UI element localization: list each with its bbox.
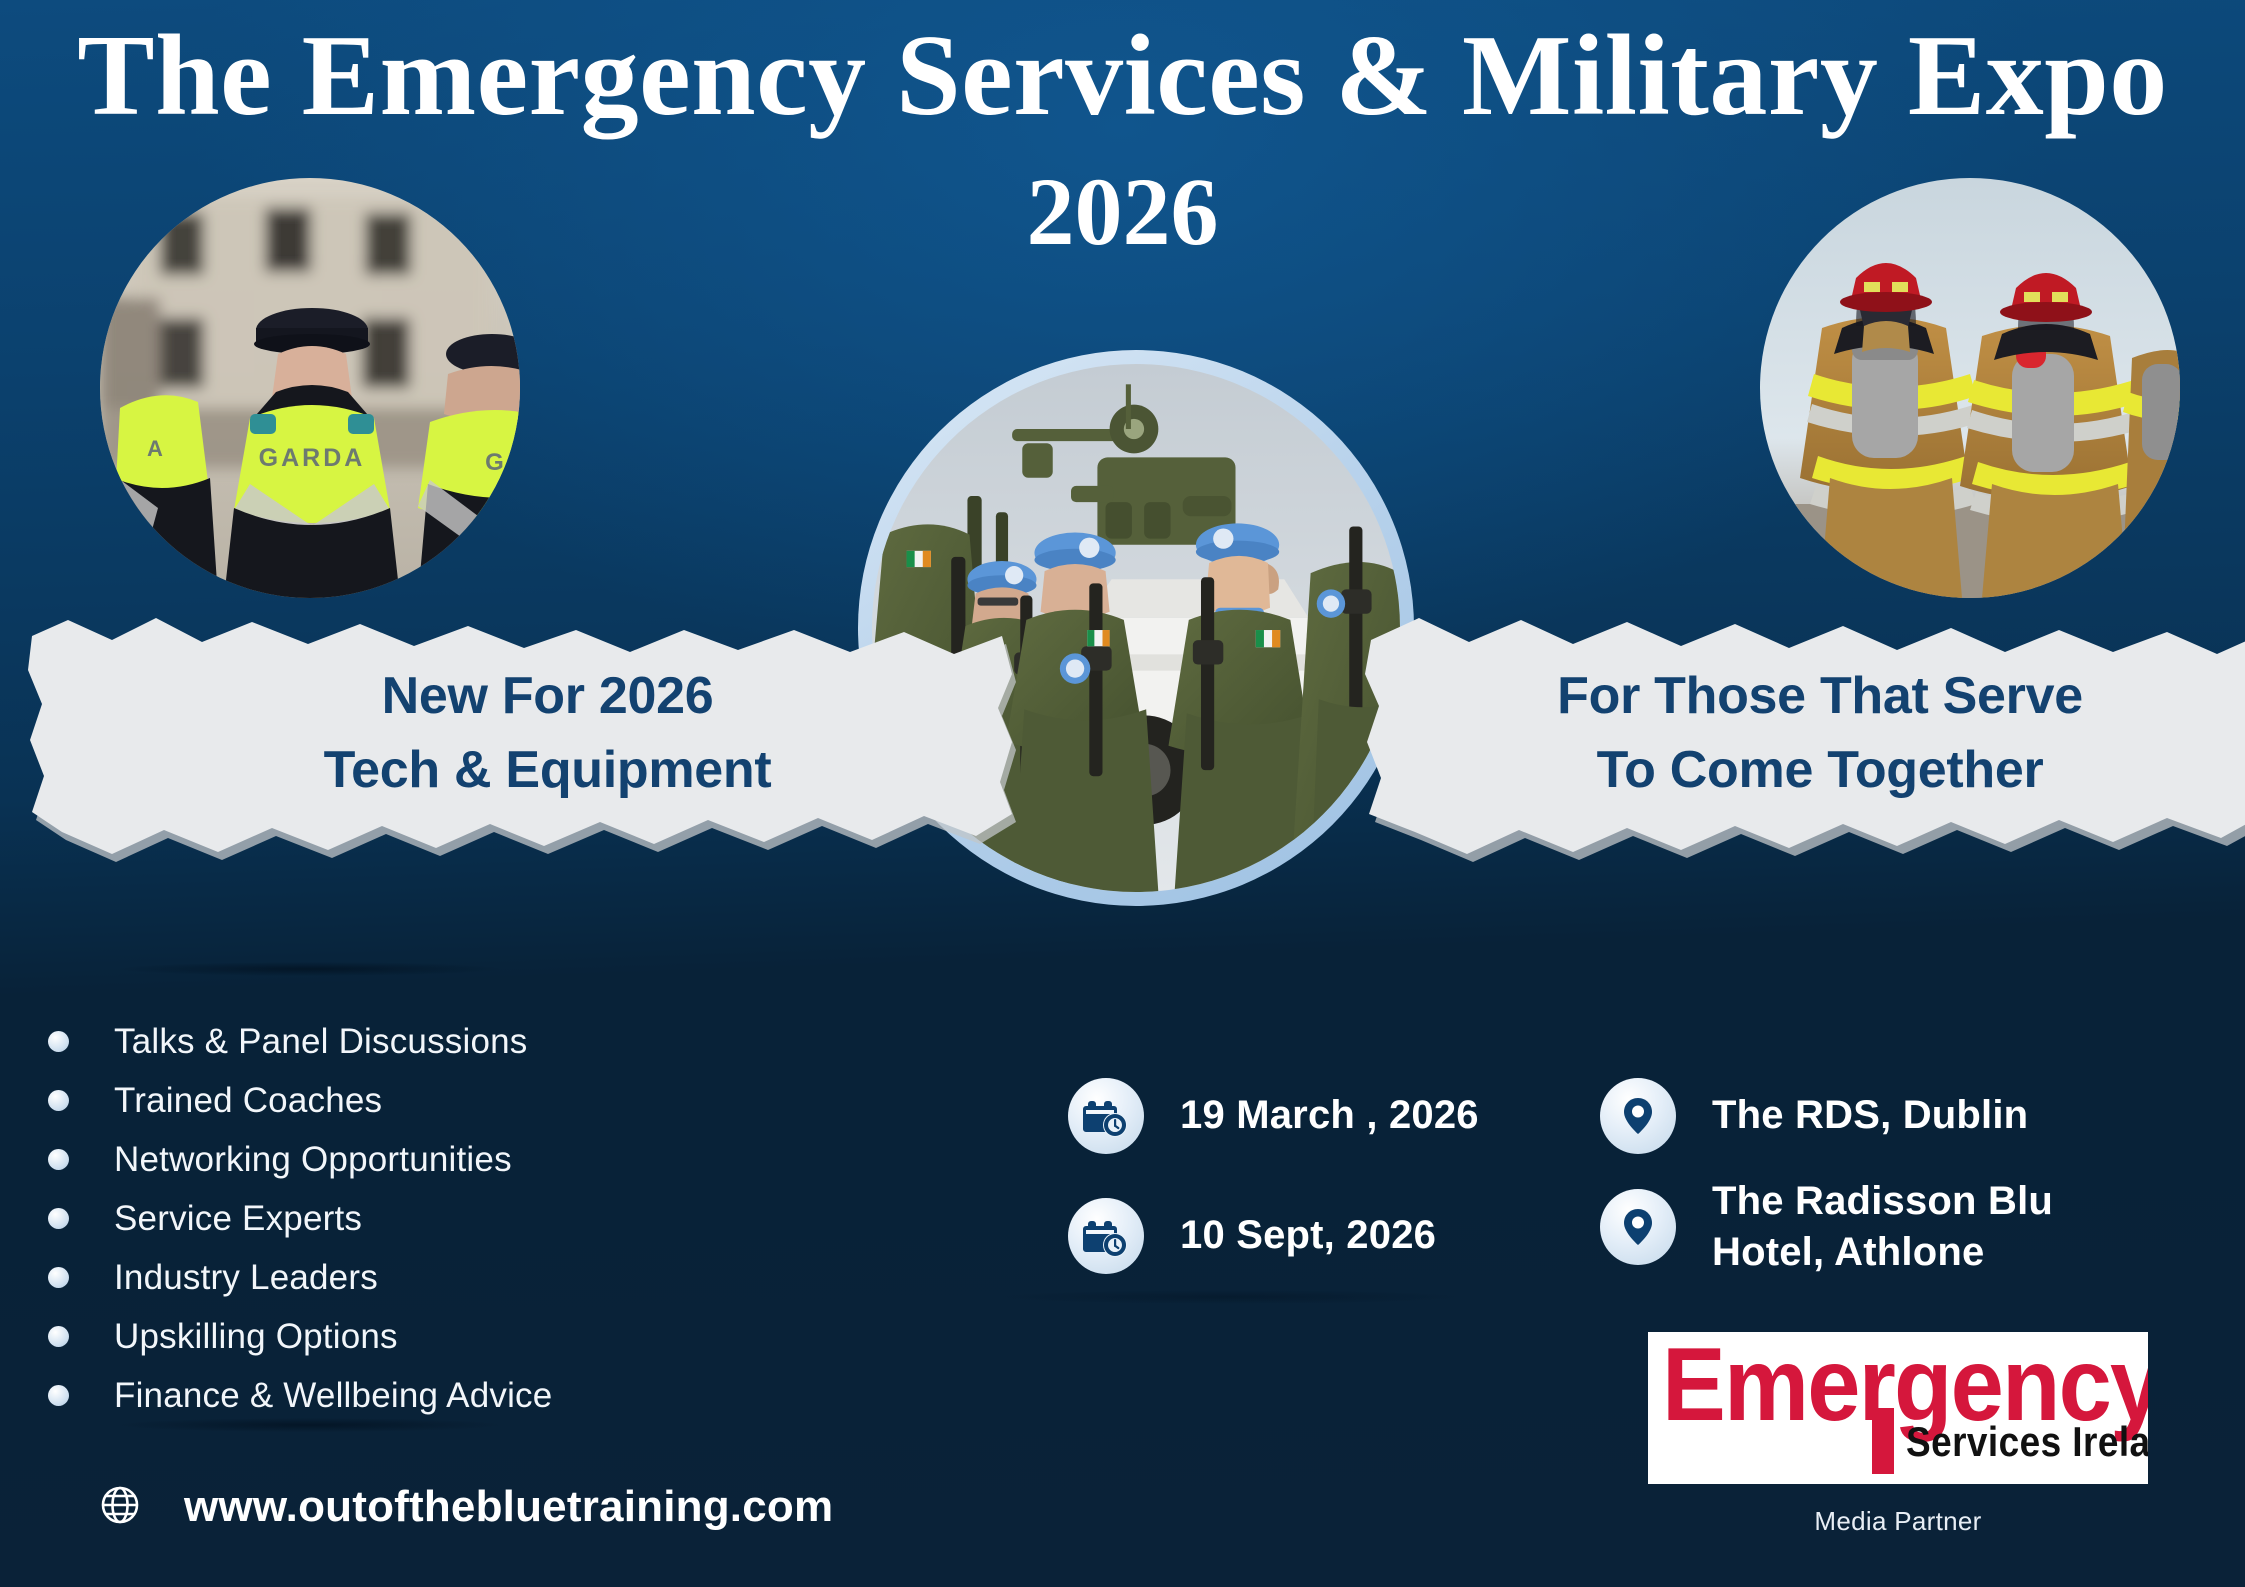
logo-secondary-text: Services Ireland [1906, 1418, 2148, 1466]
list-item: Industry Leaders [48, 1248, 748, 1307]
logo-red-bar [1872, 1408, 1894, 1474]
garda-officers-photo: GARDA A G [100, 178, 520, 598]
firefighters-photo [1760, 178, 2180, 598]
list-item: Talks & Panel Discussions [48, 1012, 748, 1071]
svg-text:A: A [147, 436, 165, 461]
bullet-dot-icon [48, 1031, 69, 1052]
venue-line1: The Radisson Blu [1712, 1179, 2053, 1223]
event-venues: The RDS, Dublin The Radisson Blu Hotel, … [1600, 1078, 2053, 1300]
event-date-row: 10 Sept, 2026 [1068, 1198, 1479, 1274]
banner-right-line2: To Come Together [1597, 734, 2044, 808]
media-partner-caption: Media Partner [1648, 1506, 2148, 1537]
feature-label: Industry Leaders [114, 1258, 378, 1298]
calendar-clock-icon [1068, 1078, 1144, 1154]
banner-new-for-2026: New For 2026 Tech & Equipment [20, 608, 1025, 866]
event-date-label: 10 Sept, 2026 [1180, 1210, 1436, 1261]
media-partner-logo: Emergency Services Ireland [1648, 1332, 2148, 1484]
event-venue-row: The RDS, Dublin [1600, 1078, 2053, 1154]
bullet-dot-icon [48, 1149, 69, 1170]
calendar-clock-icon [1068, 1198, 1144, 1274]
feature-label: Trained Coaches [114, 1081, 382, 1121]
list-item: Service Experts [48, 1189, 748, 1248]
feature-label: Finance & Wellbeing Advice [114, 1376, 552, 1416]
event-date-label: 19 March , 2026 [1180, 1090, 1479, 1141]
map-pin-icon [1600, 1189, 1676, 1265]
svg-text:G: G [485, 449, 507, 476]
bullet-dot-icon [48, 1208, 69, 1229]
feature-label: Service Experts [114, 1199, 362, 1239]
venue-label: The RDS, Dublin [1712, 1090, 2028, 1141]
banner-left-line2: Tech & Equipment [324, 734, 772, 808]
banner-right-line1: For Those That Serve [1557, 660, 2083, 734]
venue-line2: Hotel, Athlone [1712, 1230, 1984, 1274]
poster-title: The Emergency Services & Military Expo [0, 14, 2245, 139]
expo-poster: The Emergency Services & Military Expo 2… [0, 0, 2245, 1587]
banner-left-line1: New For 2026 [382, 660, 714, 734]
list-item: Trained Coaches [48, 1071, 748, 1130]
list-item: Networking Opportunities [48, 1130, 748, 1189]
bullet-dot-icon [48, 1267, 69, 1288]
website-footer[interactable]: www.outofthebluetraining.com [98, 1482, 833, 1532]
banner-for-those-that-serve: For Those That Serve To Come Together [1355, 608, 2245, 866]
list-item: Finance & Wellbeing Advice [48, 1366, 748, 1425]
banner-right-text: For Those That Serve To Come Together [1355, 608, 2245, 866]
event-dates: 19 March , 2026 [1068, 1078, 1479, 1318]
feature-label: Networking Opportunities [114, 1140, 512, 1180]
bullet-dot-icon [48, 1385, 69, 1406]
website-url[interactable]: www.outofthebluetraining.com [184, 1482, 833, 1532]
svg-text:GARDA: GARDA [259, 444, 366, 472]
globe-icon [98, 1483, 142, 1532]
list-item: Upskilling Options [48, 1307, 748, 1366]
divider-line-top [120, 962, 500, 976]
feature-label: Upskilling Options [114, 1317, 398, 1357]
event-date-row: 19 March , 2026 [1068, 1078, 1479, 1154]
feature-label: Talks & Panel Discussions [114, 1022, 528, 1062]
event-venue-row: The Radisson Blu Hotel, Athlone [1600, 1176, 2053, 1278]
bullet-dot-icon [48, 1326, 69, 1347]
bullet-dot-icon [48, 1090, 69, 1111]
venue-label-multiline: The Radisson Blu Hotel, Athlone [1712, 1176, 2053, 1278]
map-pin-icon [1600, 1078, 1676, 1154]
banner-left-text: New For 2026 Tech & Equipment [20, 608, 1025, 866]
features-list: Talks & Panel Discussions Trained Coache… [48, 1012, 748, 1425]
